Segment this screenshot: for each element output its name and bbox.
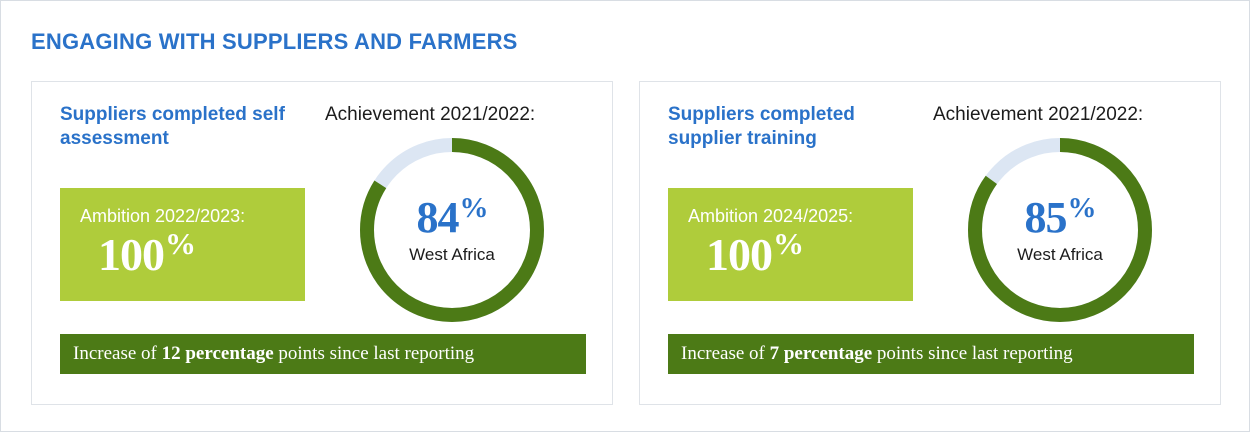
donut-value: 84% [417,195,488,239]
donut-value: 85% [1025,195,1096,239]
ambition-value: 100% [706,226,803,281]
donut-percent-symbol: % [1068,192,1096,224]
donut-center-labels: 85% West Africa [968,138,1152,322]
change-suffix: points since last reporting [274,343,475,364]
donut-region-label: West Africa [1017,245,1103,265]
change-prefix: Increase of [73,343,162,364]
change-suffix: points since last reporting [872,343,1073,364]
metric-card-supplier-training: Suppliers completed supplier training Am… [639,81,1221,405]
donut-percent-symbol: % [460,192,488,224]
change-emphasis: 12 percentage [162,343,274,364]
page-title: ENGAGING WITH SUPPLIERS AND FARMERS [31,29,518,55]
ambition-percent-symbol: % [165,226,195,261]
change-summary-bar: Increase of 7 percentage points since la… [668,334,1194,374]
ambition-value: 100% [98,226,195,281]
change-summary-text: Increase of 7 percentage points since la… [668,343,1073,365]
ambition-number: 100 [98,229,164,280]
infographic-panel: ENGAGING WITH SUPPLIERS AND FARMERS Supp… [0,0,1250,432]
ambition-label: Ambition 2022/2023: [80,206,245,227]
ambition-percent-symbol: % [773,226,803,261]
change-summary-text: Increase of 12 percentage points since l… [60,343,474,365]
donut-number: 84 [417,193,459,242]
ambition-box: Ambition 2024/2025: 100% [668,188,913,301]
metric-panels-container: Suppliers completed self assessment Ambi… [31,81,1221,405]
metric-title: Suppliers completed supplier training [668,103,913,152]
achievement-label: Achievement 2021/2022: [933,104,1143,126]
change-emphasis: 7 percentage [770,343,873,364]
metric-title: Suppliers completed self assessment [60,103,305,152]
donut-center-labels: 84% West Africa [360,138,544,322]
donut-chart-achievement: 84% West Africa [360,138,544,322]
donut-number: 85 [1025,193,1067,242]
ambition-box: Ambition 2022/2023: 100% [60,188,305,301]
ambition-number: 100 [706,229,772,280]
change-summary-bar: Increase of 12 percentage points since l… [60,334,586,374]
donut-chart-achievement: 85% West Africa [968,138,1152,322]
change-prefix: Increase of [681,343,770,364]
donut-region-label: West Africa [409,245,495,265]
achievement-label: Achievement 2021/2022: [325,104,535,126]
metric-card-self-assessment: Suppliers completed self assessment Ambi… [31,81,613,405]
ambition-label: Ambition 2024/2025: [688,206,853,227]
